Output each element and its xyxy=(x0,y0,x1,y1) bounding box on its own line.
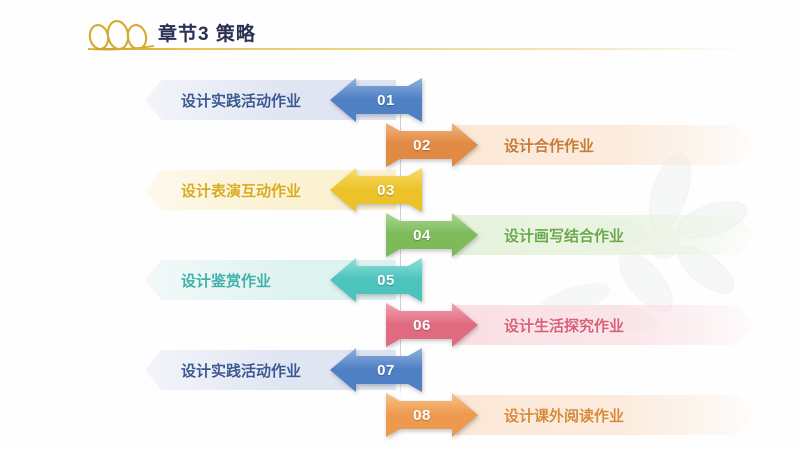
arrow-left-icon xyxy=(330,168,422,212)
step-label-band: 设计课外阅读作业 xyxy=(452,395,754,435)
step-row: 设计画写结合作业 04 xyxy=(0,213,800,257)
step-label-band: 设计画写结合作业 xyxy=(452,215,754,255)
step-arrow[interactable]: 02 xyxy=(386,123,478,167)
step-number: 01 xyxy=(377,92,395,109)
step-number: 04 xyxy=(413,227,431,244)
step-row: 设计表演互动作业 03 xyxy=(0,168,800,212)
step-label-text: 设计实践活动作业 xyxy=(181,360,301,381)
step-arrow[interactable]: 03 xyxy=(330,168,422,212)
step-label-text: 设计画写结合作业 xyxy=(504,225,624,246)
step-arrow[interactable]: 07 xyxy=(330,348,422,392)
step-row: 设计合作作业 02 xyxy=(0,123,800,167)
arrow-right-icon xyxy=(386,393,478,437)
step-row: 设计生活探究作业 06 xyxy=(0,303,800,347)
step-row: 设计鉴赏作业 05 xyxy=(0,258,800,302)
step-arrow[interactable]: 01 xyxy=(330,78,422,122)
step-label-text: 设计表演互动作业 xyxy=(181,180,301,201)
step-label-text: 设计合作作业 xyxy=(504,135,594,156)
arrow-left-icon xyxy=(330,348,422,392)
step-label-text: 设计课外阅读作业 xyxy=(504,405,624,426)
step-row: 设计课外阅读作业 08 xyxy=(0,393,800,437)
arrow-left-icon xyxy=(330,258,422,302)
step-label-text: 设计生活探究作业 xyxy=(504,315,624,336)
step-number: 07 xyxy=(377,362,395,379)
step-number: 06 xyxy=(413,317,431,334)
arrow-left-icon xyxy=(330,78,422,122)
step-label-band: 设计合作作业 xyxy=(452,125,754,165)
step-number: 03 xyxy=(377,182,395,199)
step-arrow-list: 设计实践活动作业 01 设计合作作业 xyxy=(0,0,800,450)
arrow-right-icon xyxy=(386,303,478,347)
step-label-background xyxy=(452,125,754,165)
step-row: 设计实践活动作业 01 xyxy=(0,78,800,122)
step-label-text: 设计鉴赏作业 xyxy=(181,270,271,291)
slide-canvas: 章节3 策略 设计实践活动作业 01 xyxy=(0,0,800,450)
step-arrow[interactable]: 08 xyxy=(386,393,478,437)
step-number: 08 xyxy=(413,407,431,424)
step-number: 02 xyxy=(413,137,431,154)
arrow-right-icon xyxy=(386,123,478,167)
step-number: 05 xyxy=(377,272,395,289)
arrow-right-icon xyxy=(386,213,478,257)
step-row: 设计实践活动作业 07 xyxy=(0,348,800,392)
step-arrow[interactable]: 05 xyxy=(330,258,422,302)
step-label-text: 设计实践活动作业 xyxy=(181,90,301,111)
step-arrow[interactable]: 06 xyxy=(386,303,478,347)
step-label-band: 设计生活探究作业 xyxy=(452,305,754,345)
step-arrow[interactable]: 04 xyxy=(386,213,478,257)
